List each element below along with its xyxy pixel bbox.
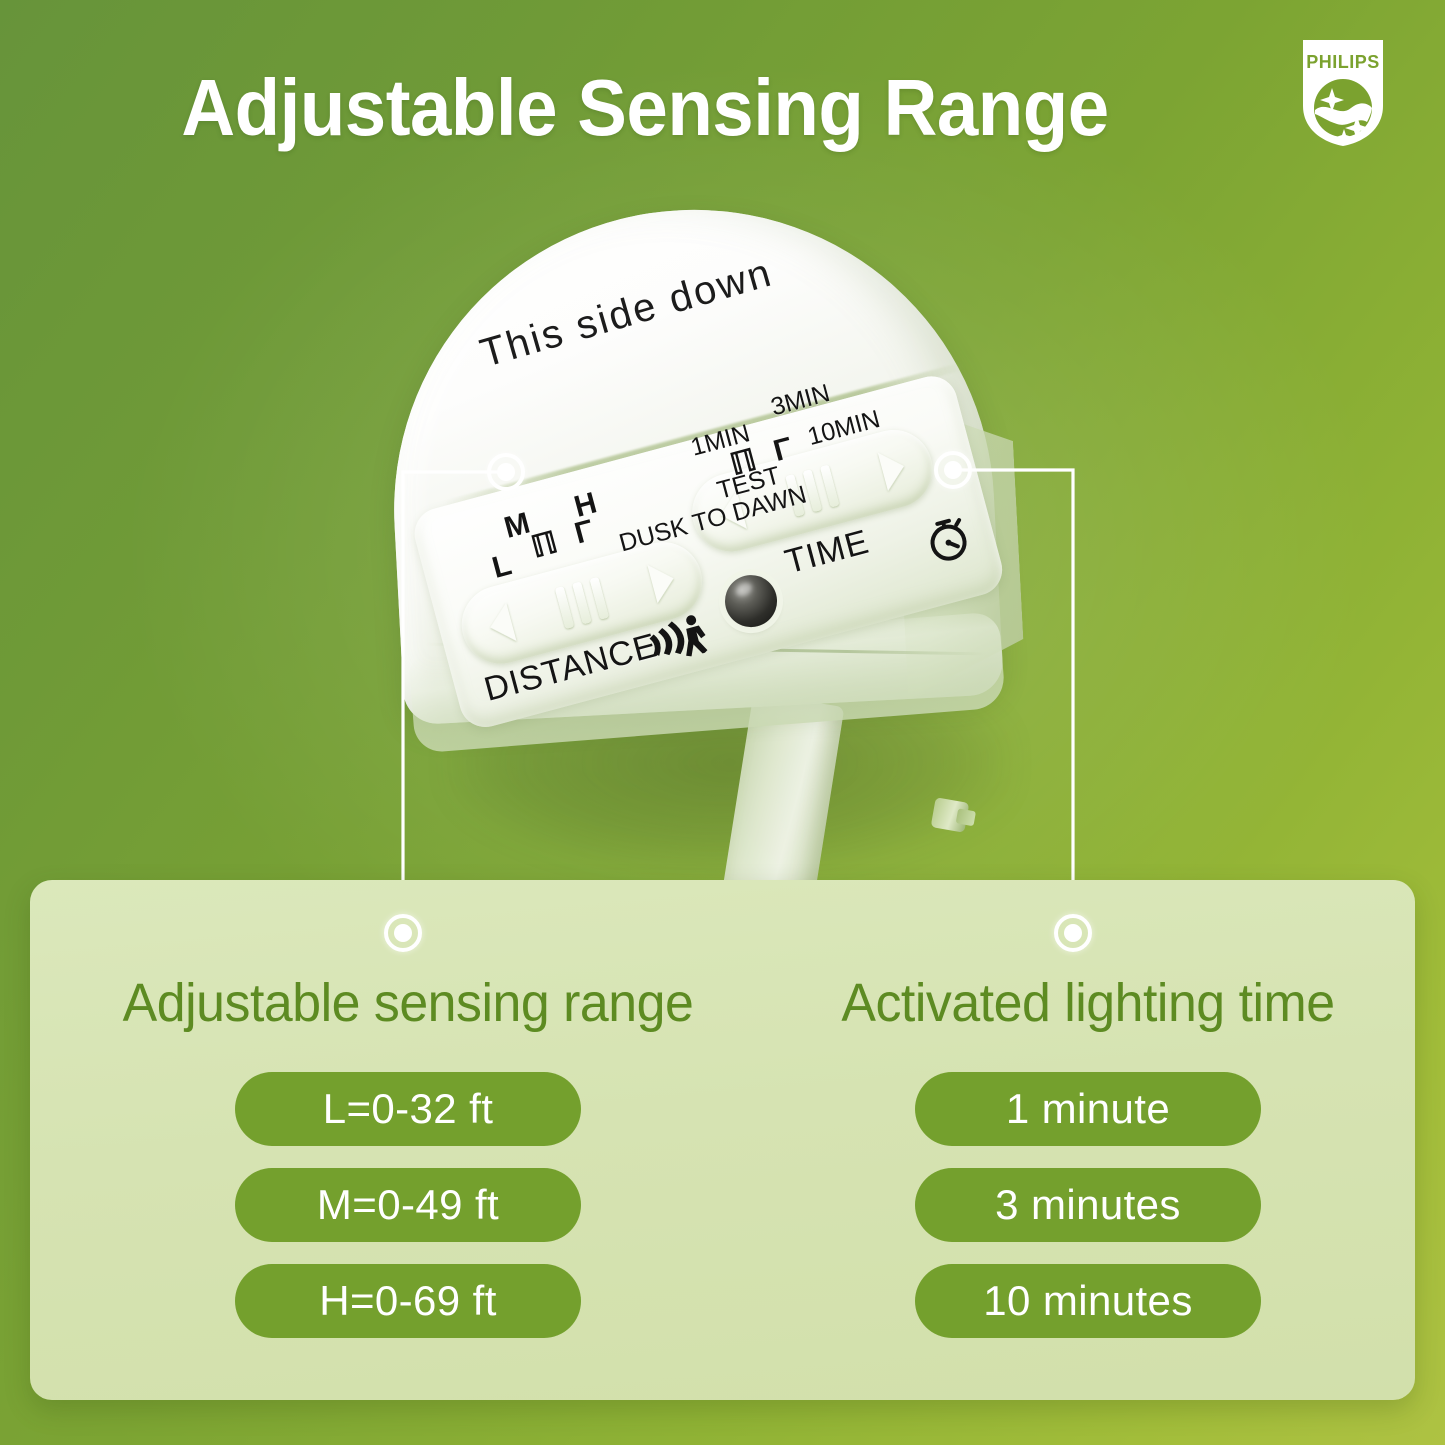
pill-list-lighting-time: 1 minute 3 minutes 10 minutes bbox=[778, 1072, 1398, 1338]
infographic-poster: Adjustable Sensing Range PHILIPS bbox=[0, 0, 1445, 1445]
pill-time-1min[interactable]: 1 minute bbox=[915, 1072, 1261, 1146]
callout-marker-time[interactable] bbox=[1054, 914, 1092, 952]
callout-marker-distance-source[interactable] bbox=[487, 453, 525, 491]
pill-time-10min[interactable]: 10 minutes bbox=[915, 1264, 1261, 1338]
chevron-right-icon bbox=[878, 447, 910, 491]
product-image: This side down DISTANCE TIME DUSK TO DAW… bbox=[355, 200, 1095, 880]
fixture-head: This side down DISTANCE TIME DUSK TO DAW… bbox=[363, 194, 1021, 781]
stem-knob bbox=[931, 797, 970, 832]
details-panel: Adjustable sensing range L=0-32 ft M=0-4… bbox=[30, 880, 1415, 1400]
pill-time-3min[interactable]: 3 minutes bbox=[915, 1168, 1261, 1242]
pill-range-l[interactable]: L=0-32 ft bbox=[235, 1072, 581, 1146]
callout-marker-time-source[interactable] bbox=[934, 451, 972, 489]
page-title: Adjustable Sensing Range bbox=[45, 68, 1245, 148]
column-sensing-range: Adjustable sensing range L=0-32 ft M=0-4… bbox=[98, 976, 718, 1338]
slider-grip bbox=[555, 577, 609, 629]
chevron-right-icon bbox=[647, 559, 679, 603]
chevron-left-icon bbox=[485, 602, 517, 646]
philips-shield-icon: PHILIPS bbox=[1299, 36, 1387, 150]
pill-list-sensing-range: L=0-32 ft M=0-49 ft H=0-69 ft bbox=[98, 1072, 718, 1338]
column-lighting-time: Activated lighting time 1 minute 3 minut… bbox=[778, 976, 1398, 1338]
pill-range-m[interactable]: M=0-49 ft bbox=[235, 1168, 581, 1242]
svg-text:PHILIPS: PHILIPS bbox=[1306, 52, 1380, 72]
callout-marker-distance[interactable] bbox=[384, 914, 422, 952]
column-heading-lighting-time: Activated lighting time bbox=[790, 976, 1385, 1030]
column-heading-sensing-range: Adjustable sensing range bbox=[110, 976, 705, 1030]
pill-range-h[interactable]: H=0-69 ft bbox=[235, 1264, 581, 1338]
